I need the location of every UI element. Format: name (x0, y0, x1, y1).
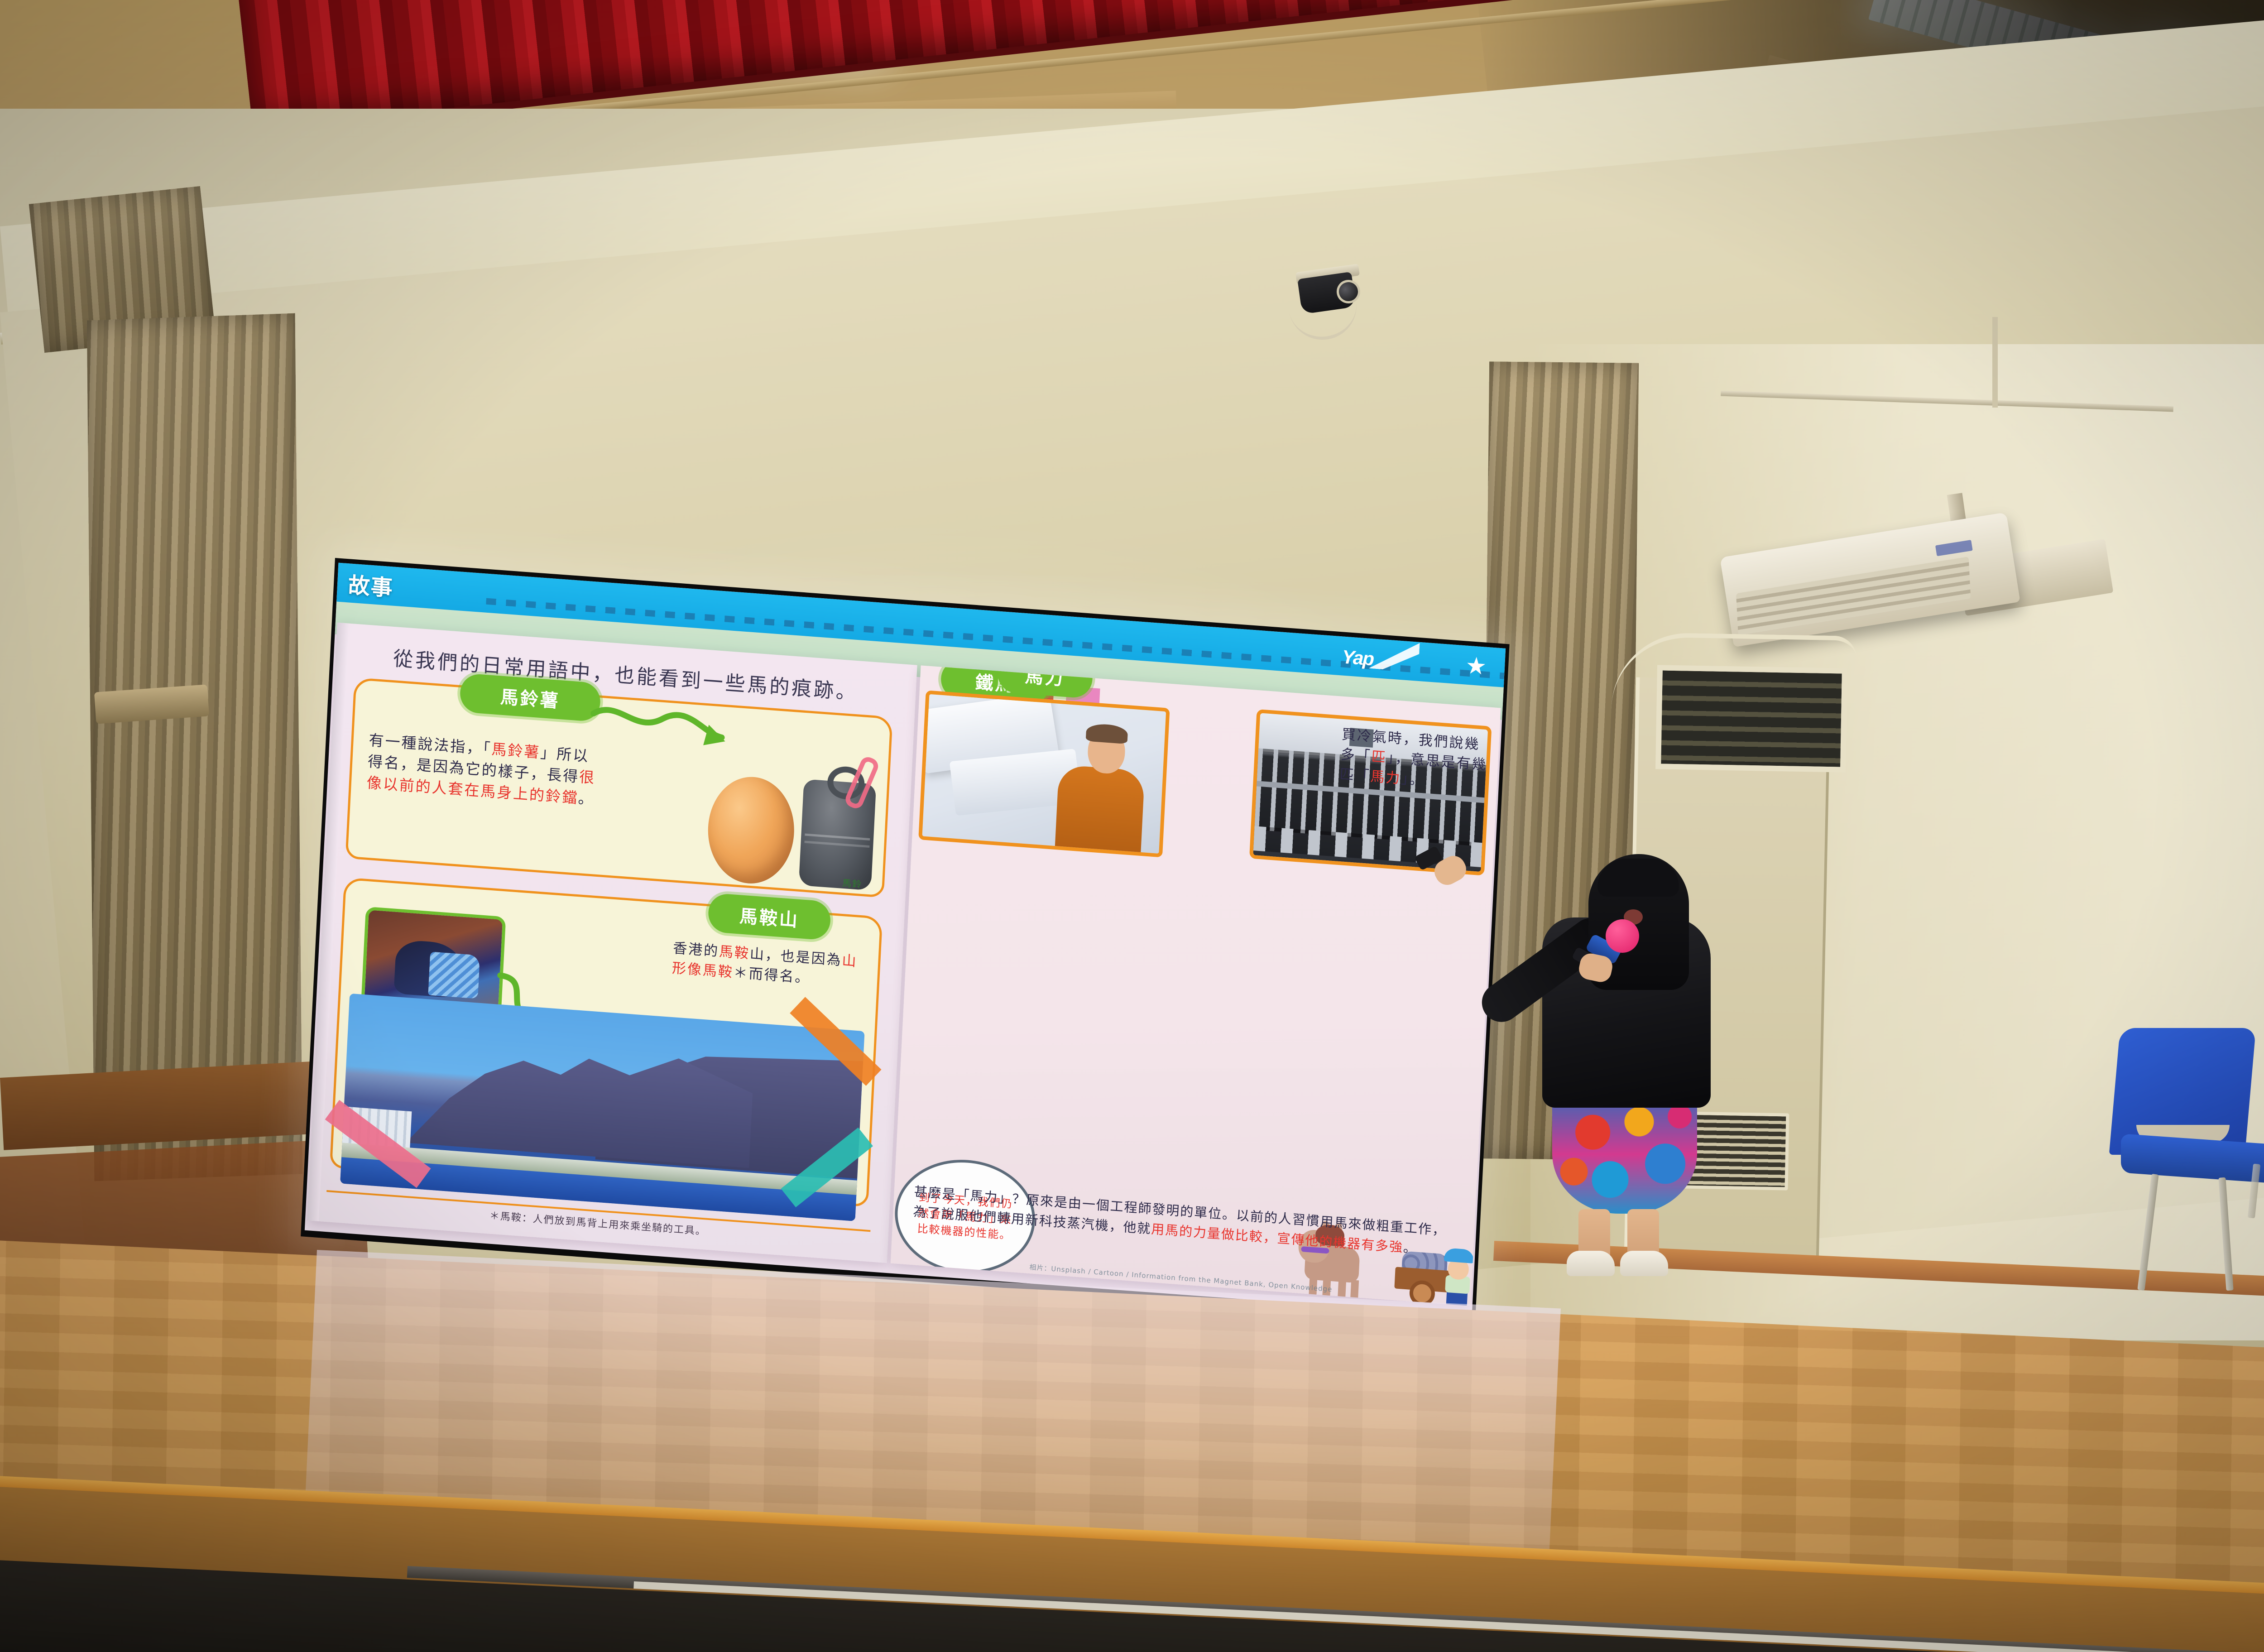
projected-slide: 故事 Yap ★ 從我們的日常用語中，也能看到一些馬的痕跡。 馬鈴薯 (305, 563, 1506, 1316)
arrow-to-potato-icon (589, 695, 736, 760)
presenter-bangs (1597, 859, 1679, 897)
wall-vent-louvers (1655, 665, 1847, 772)
body-horsepower: 買冷氣時，我們說幾多「匹」，意思是有幾匹「馬力」。 (1339, 725, 1492, 795)
mountain-ridge-front (406, 1030, 755, 1168)
body-hp-hl-2: 馬力 (1370, 768, 1402, 787)
chair-leg (2218, 1177, 2233, 1291)
body-mos-hl-1: 馬鞍 (719, 943, 750, 962)
spread-right-page: 鐵馬 這種可以搬來搬去的金屬護欄，有個很可愛的俗稱，叫「鐵馬」。 (891, 665, 1501, 1306)
potato-photo (705, 774, 796, 887)
caption-horse-bell: 馬鈴 (842, 876, 862, 890)
presenter-shoe (1567, 1251, 1615, 1276)
body-mos-plain-2: 山，也是因為 (749, 946, 842, 969)
card-ma-on-shan: 馬鞍山 香港的馬鞍山，也是因為山形像馬鞍＊而得名。 (330, 877, 883, 1207)
screen-frame: 故事 Yap ★ 從我們的日常用語中，也能看到一些馬的痕跡。 馬鈴薯 (301, 558, 1510, 1323)
hall-stage-photo: 故事 Yap ★ 從我們的日常用語中，也能看到一些馬的痕跡。 馬鈴薯 (0, 0, 2264, 1652)
spread-left-page: 從我們的日常用語中，也能看到一些馬的痕跡。 馬鈴薯 有一種說法指，「馬鈴薯」所以… (307, 623, 917, 1263)
card-horsepower: 馬力 買冷氣時，我們說幾多「匹」，意思是有幾匹「馬力」。 (898, 871, 1490, 1149)
brand-star-icon: ★ (1465, 654, 1487, 679)
man-hair (1086, 723, 1128, 744)
man-jacket (1055, 764, 1145, 857)
closing-plain-2: 。 (1403, 1239, 1418, 1256)
body-hp-plain-3: 」。 (1401, 771, 1425, 789)
blue-stacking-chair[interactable] (2101, 1028, 2264, 1291)
body-mos-plain-1: 香港的 (672, 940, 719, 960)
air-conditioner-man-photo (918, 690, 1170, 857)
saddle-pad (428, 952, 480, 999)
presenter (1499, 829, 1752, 1286)
ac-brand-badge (1935, 540, 1973, 556)
ac-support-rod (1992, 317, 1998, 408)
banner-label: 故事 (347, 567, 394, 602)
chair-leg (2137, 1174, 2158, 1291)
body-potato: 有一種說法指，「馬鈴薯」所以得名，是因為它的樣子，長得很像以前的人套在馬身上的鈴… (366, 730, 604, 810)
body-hp-hl-1: 匹 (1371, 749, 1387, 766)
microphone-icon (1606, 919, 1639, 953)
side-curtain-left (87, 313, 302, 1181)
magazine-spread: 從我們的日常用語中，也能看到一些馬的痕跡。 馬鈴薯 有一種說法指，「馬鈴薯」所以… (305, 619, 1503, 1316)
presenter-shoe (1620, 1251, 1668, 1276)
card-potato: 馬鈴薯 有一種說法指，「馬鈴薯」所以得名，是因為它的樣子，長得很像以前的人套在馬… (345, 677, 892, 898)
projection-screen[interactable]: 故事 Yap ★ 從我們的日常用語中，也能看到一些馬的痕跡。 馬鈴薯 (301, 558, 1510, 1323)
tag-ma-on-shan: 馬鞍山 (712, 898, 827, 936)
body-mos-plain-3: ＊而得名。 (733, 965, 811, 986)
body-potato-plain-3: 。 (578, 789, 595, 808)
body-ma-on-shan: 香港的馬鞍山，也是因為山形像馬鞍＊而得名。 (672, 938, 863, 992)
body-potato-hl-1: 馬鈴薯 (491, 740, 541, 761)
